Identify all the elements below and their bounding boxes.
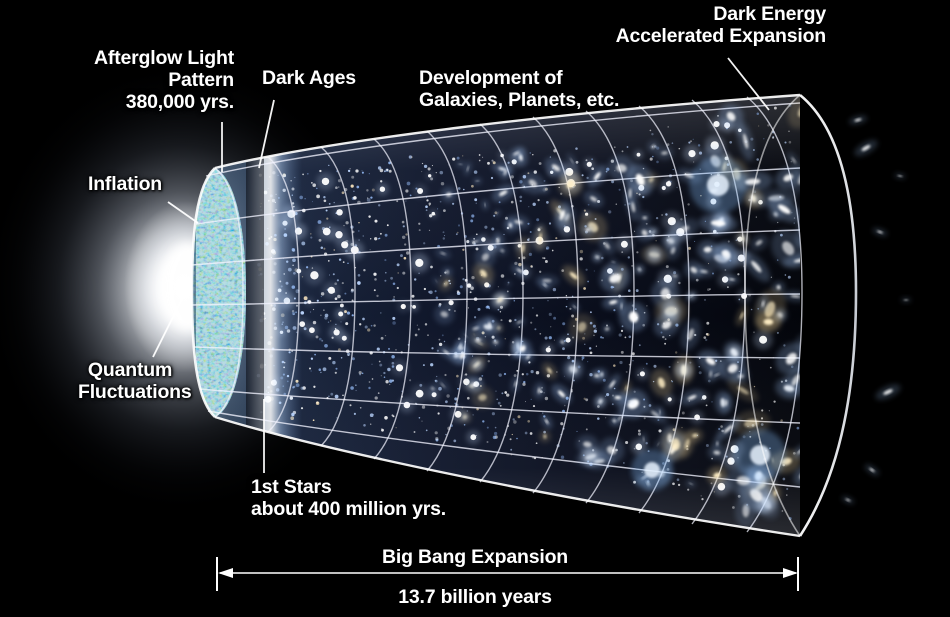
label-big-bang-expansion: Big Bang Expansion (0, 547, 950, 569)
label-dark-energy: Dark Energy Accelerated Expansion (600, 4, 826, 48)
label-development-of-galaxies: Development of Galaxies, Planets, etc. (419, 68, 619, 112)
label-duration-years: 13.7 billion years (0, 587, 950, 609)
label-afterglow-light-pattern: Afterglow Light Pattern 380,000 yrs. (84, 48, 234, 113)
label-first-stars: 1st Stars about 400 million yrs. (251, 477, 446, 521)
label-quantum-fluctuations: Quantum Fluctuations (78, 360, 182, 404)
label-dark-ages: Dark Ages (262, 68, 356, 90)
universe-timeline-diagram: Afterglow Light Pattern 380,000 yrs. Dar… (0, 0, 950, 617)
label-inflation: Inflation (88, 174, 162, 196)
